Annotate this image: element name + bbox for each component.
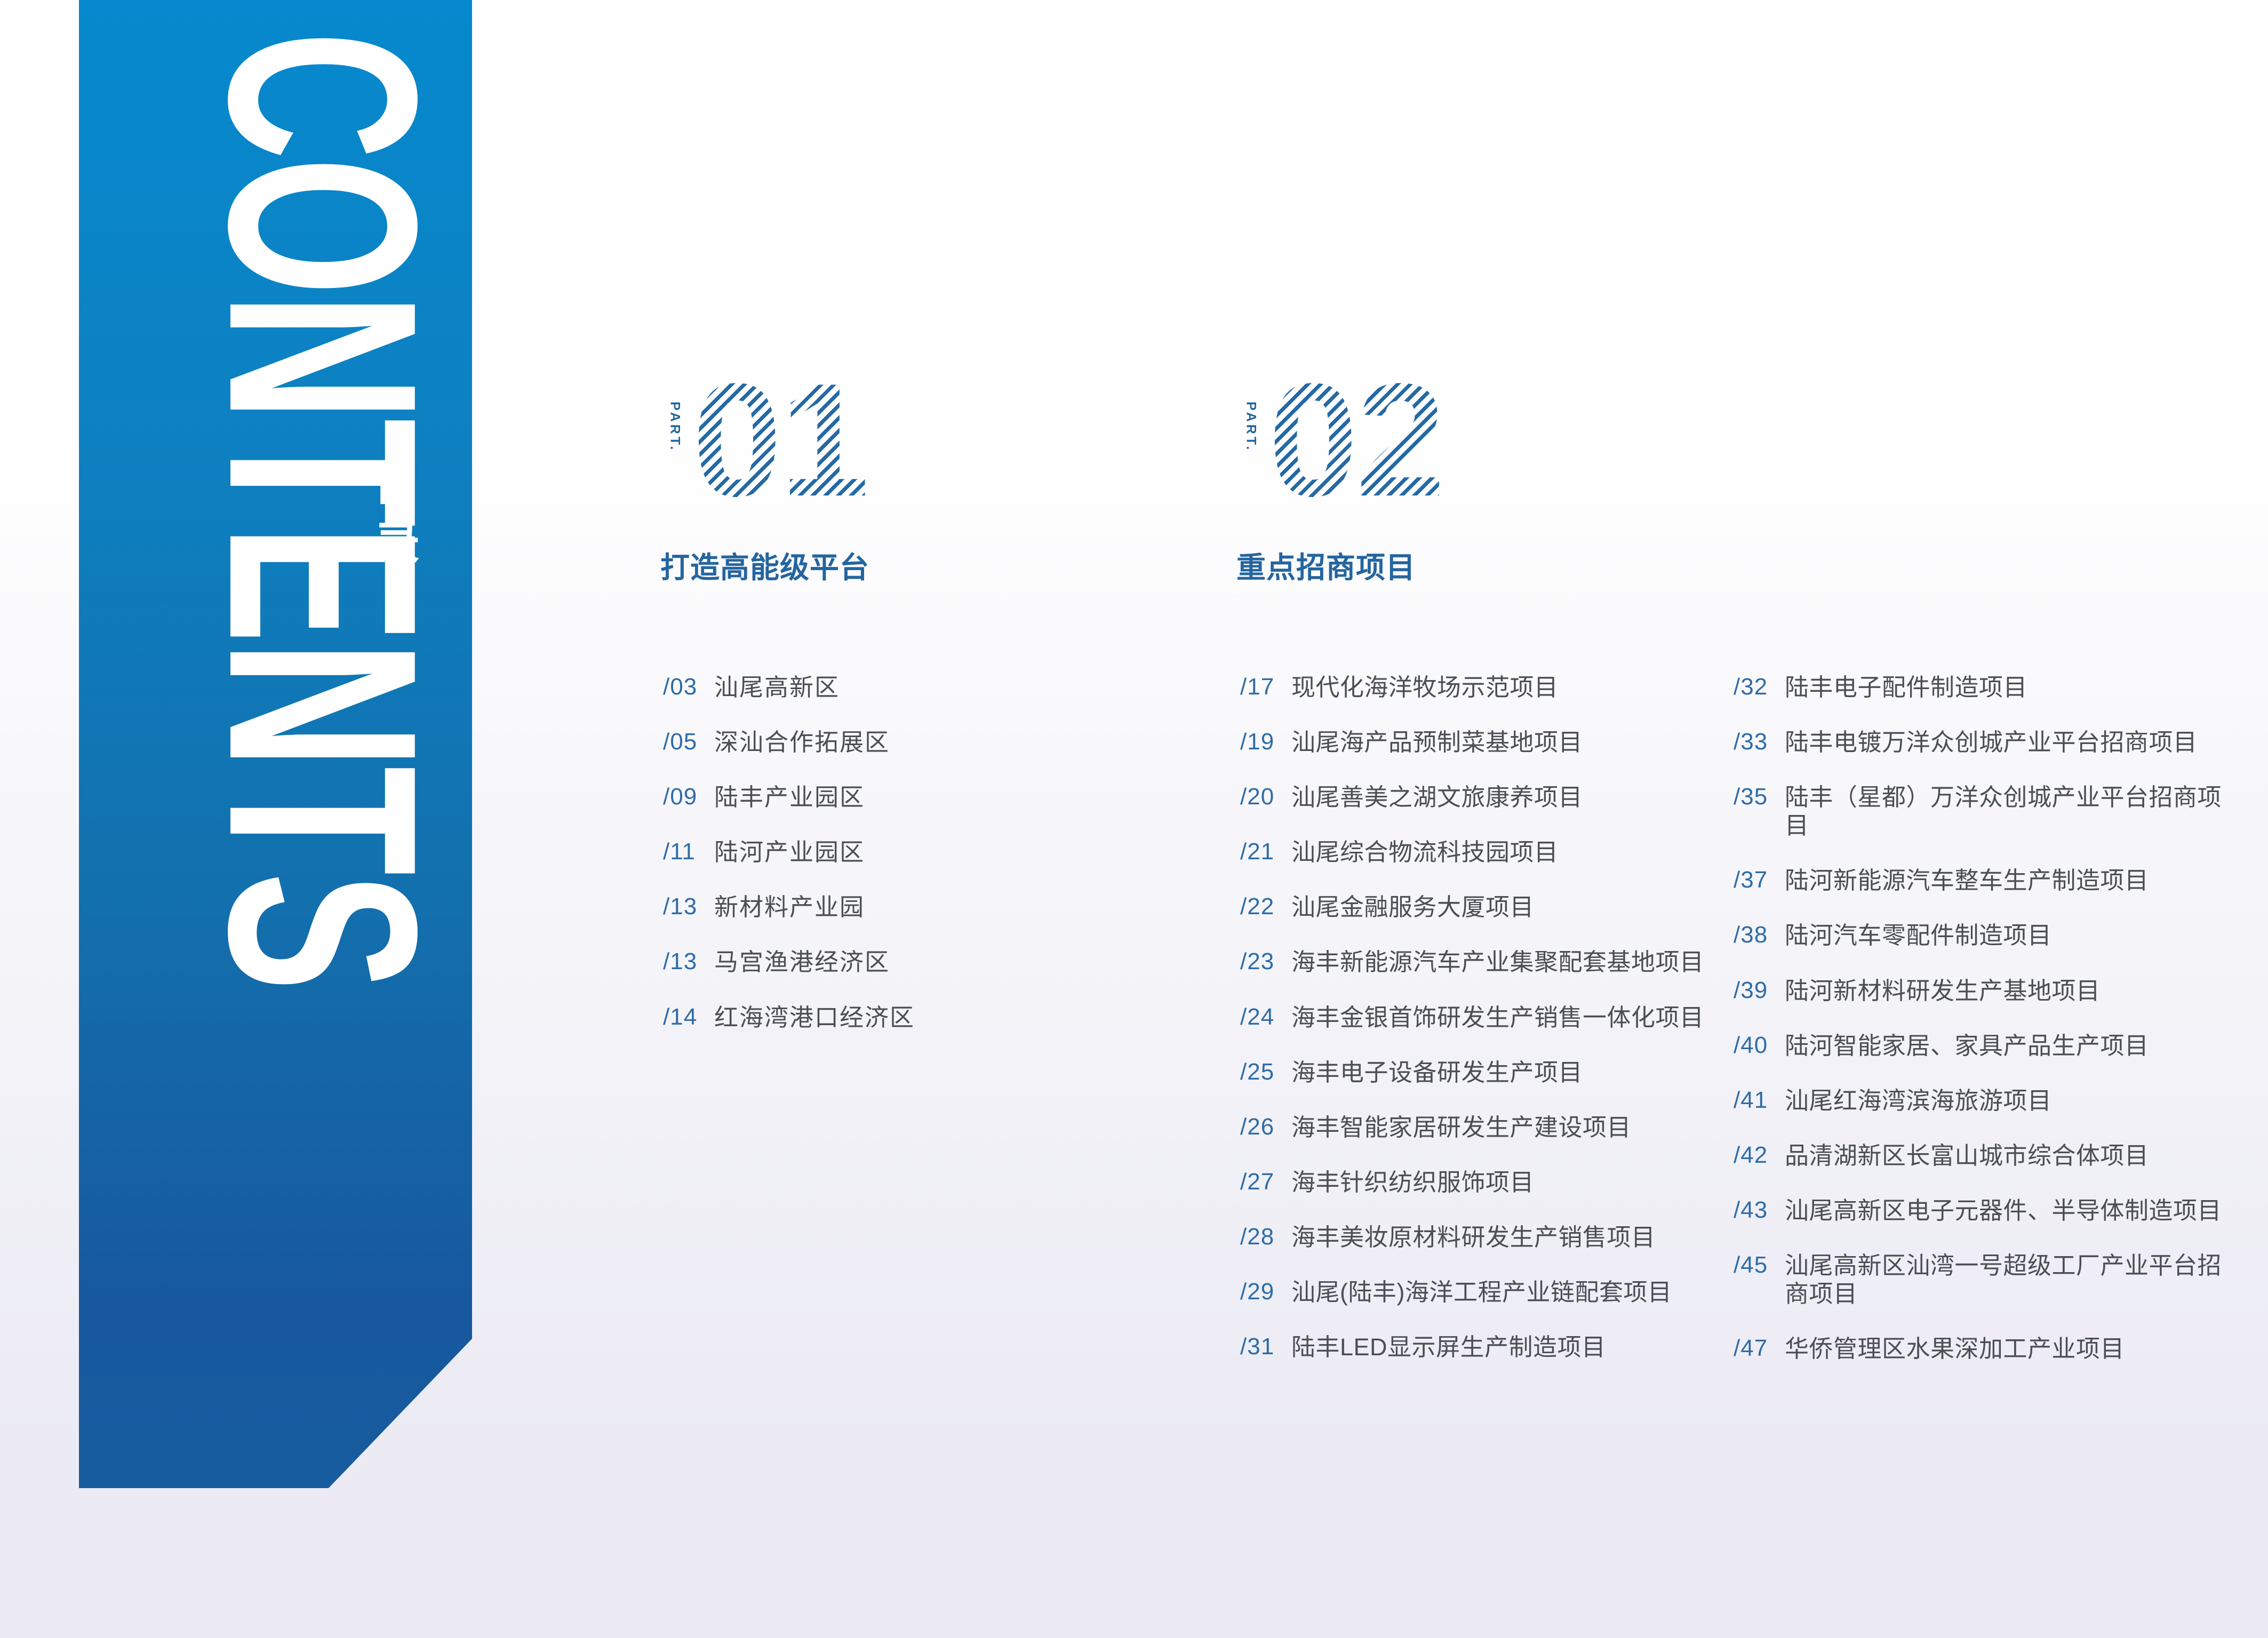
toc-entry-title: 海丰金银首饰研发生产销售一体化项目 bbox=[1291, 1003, 1704, 1032]
toc-entry-title: 汕尾金融服务大厦项目 bbox=[1291, 893, 1534, 921]
toc-entry-page-number: /13 bbox=[663, 948, 714, 976]
toc-entry-title: 陆丰产业园区 bbox=[714, 783, 865, 811]
toc-entry-title: 新材料产业园 bbox=[714, 893, 865, 921]
toc-entry-title: 陆河新材料研发生产基地项目 bbox=[1785, 977, 2101, 1005]
toc-entry[interactable]: /13马宫渔港经济区 bbox=[663, 948, 1004, 976]
toc-entry-title: 海丰新能源汽车产业集聚配套基地项目 bbox=[1291, 948, 1704, 976]
toc-entry[interactable]: /17现代化海洋牧场示范项目 bbox=[1240, 673, 1747, 701]
toc-entry[interactable]: /25海丰电子设备研发生产项目 bbox=[1240, 1058, 1747, 1086]
toc-entry[interactable]: /21汕尾综合物流科技园项目 bbox=[1240, 838, 1747, 866]
toc-entry[interactable]: /41汕尾红海湾滨海旅游项目 bbox=[1734, 1086, 2240, 1115]
toc-entry-title: 深汕合作拓展区 bbox=[714, 728, 890, 756]
toc-entry-page-number: /13 bbox=[663, 893, 714, 921]
toc-entry-title: 汕尾红海湾滨海旅游项目 bbox=[1785, 1086, 2052, 1115]
toc-entry-title: 陆河智能家居、家具产品生产项目 bbox=[1785, 1032, 2149, 1060]
toc-entry-page-number: /39 bbox=[1734, 977, 1785, 1004]
contents-wordmark: CONTENTS bbox=[79, 0, 472, 1488]
toc-entry-page-number: /40 bbox=[1734, 1032, 1785, 1059]
toc-entry-page-number: /32 bbox=[1734, 673, 1785, 701]
part-02-number-row: PART. 02 bbox=[1236, 368, 1443, 531]
toc-entry-title: 汕尾高新区 bbox=[714, 673, 840, 701]
toc-entry-page-number: /27 bbox=[1240, 1168, 1291, 1196]
toc-entry-page-number: /22 bbox=[1240, 893, 1291, 921]
toc-entry-page-number: /09 bbox=[663, 783, 714, 811]
toc-entry-title: 陆河新能源汽车整车生产制造项目 bbox=[1785, 866, 2149, 894]
toc-entry-title: 陆河产业园区 bbox=[714, 838, 865, 866]
toc-entry-page-number: /45 bbox=[1734, 1251, 1785, 1279]
toc-entry-page-number: /33 bbox=[1734, 728, 1785, 756]
toc-entry-page-number: /47 bbox=[1734, 1335, 1785, 1362]
toc-entry-title: 红海湾港口经济区 bbox=[714, 1003, 915, 1032]
toc-entry[interactable]: /45汕尾高新区汕湾一号超级工厂产业平台招商项目 bbox=[1734, 1251, 2240, 1308]
toc-entry-page-number: /17 bbox=[1240, 673, 1291, 701]
toc-entry[interactable]: /28海丰美妆原材料研发生产销售项目 bbox=[1240, 1223, 1747, 1251]
toc-entry-page-number: /11 bbox=[663, 838, 714, 866]
toc-entry-page-number: /29 bbox=[1240, 1278, 1291, 1306]
toc-entry[interactable]: /14红海湾港口经济区 bbox=[663, 1003, 1004, 1032]
toc-entry-page-number: /05 bbox=[663, 728, 714, 756]
toc-entry-page-number: /25 bbox=[1240, 1058, 1291, 1086]
part-01-label-wrapper: PART. bbox=[660, 368, 689, 528]
toc-entry-page-number: /42 bbox=[1734, 1141, 1785, 1169]
toc-entry[interactable]: /40陆河智能家居、家具产品生产项目 bbox=[1734, 1032, 2240, 1060]
toc-entry-page-number: /43 bbox=[1734, 1196, 1785, 1224]
toc-entry[interactable]: /29汕尾(陆丰)海洋工程产业链配套项目 bbox=[1240, 1278, 1747, 1306]
toc-entry-title: 汕尾善美之湖文旅康养项目 bbox=[1291, 783, 1583, 811]
part-01-title: 打造高能级平台 bbox=[660, 544, 869, 586]
toc-entry[interactable]: /38陆河汽车零配件制造项目 bbox=[1734, 921, 2240, 949]
toc-entry-page-number: /31 bbox=[1240, 1333, 1291, 1361]
toc-entry[interactable]: /32陆丰电子配件制造项目 bbox=[1734, 673, 2240, 701]
toc-entry-title: 陆丰电子配件制造项目 bbox=[1785, 673, 2027, 701]
part-01-number: 01 bbox=[689, 359, 867, 521]
toc-entry[interactable]: /35陆丰（星都）万洋众创城产业平台招商项目 bbox=[1734, 783, 2240, 840]
toc-entry[interactable]: /24海丰金银首饰研发生产销售一体化项目 bbox=[1240, 1003, 1747, 1032]
toc-entry[interactable]: /47华侨管理区水果深加工产业项目 bbox=[1734, 1335, 2240, 1363]
toc-entry-title: 海丰针织纺织服饰项目 bbox=[1291, 1168, 1534, 1196]
toc-entry[interactable]: /03汕尾高新区 bbox=[663, 673, 1004, 701]
toc-entry-page-number: /14 bbox=[663, 1003, 714, 1031]
toc-entry-title: 品清湖新区长富山城市综合体项目 bbox=[1785, 1141, 2149, 1170]
toc-entry[interactable]: /39陆河新材料研发生产基地项目 bbox=[1734, 977, 2240, 1005]
toc-entry-page-number: /20 bbox=[1240, 783, 1291, 811]
toc-entry-title: 汕尾(陆丰)海洋工程产业链配套项目 bbox=[1291, 1278, 1672, 1306]
page-title-cn-char-1: 目 bbox=[374, 455, 443, 515]
toc-entry[interactable]: /27海丰针织纺织服饰项目 bbox=[1240, 1168, 1747, 1196]
toc-entry[interactable]: /05深汕合作拓展区 bbox=[663, 728, 1004, 756]
toc-entry[interactable]: /37陆河新能源汽车整车生产制造项目 bbox=[1734, 866, 2240, 894]
toc-entry[interactable]: /09陆丰产业园区 bbox=[663, 783, 1004, 811]
toc-entry[interactable]: /19汕尾海产品预制菜基地项目 bbox=[1240, 728, 1747, 756]
page-title-cn-char-2: 录 bbox=[374, 515, 443, 574]
toc-entry-title: 陆丰LED显示屏生产制造项目 bbox=[1291, 1333, 1606, 1361]
toc-entry[interactable]: /11陆河产业园区 bbox=[663, 838, 1004, 866]
toc-entry-title: 汕尾海产品预制菜基地项目 bbox=[1291, 728, 1583, 756]
toc-entry-page-number: /19 bbox=[1240, 728, 1291, 756]
toc-entry[interactable]: /31陆丰LED显示屏生产制造项目 bbox=[1240, 1333, 1747, 1361]
toc-entry-page-number: /23 bbox=[1240, 948, 1291, 976]
part-01-number-row: PART. 01 bbox=[660, 368, 869, 531]
toc-column-2: /17现代化海洋牧场示范项目/19汕尾海产品预制菜基地项目/20汕尾善美之湖文旅… bbox=[1240, 673, 1747, 1388]
toc-column-3: /32陆丰电子配件制造项目/33陆丰电镀万洋众创城产业平台招商项目/35陆丰（星… bbox=[1734, 673, 2240, 1389]
toc-entry-page-number: /03 bbox=[663, 673, 714, 701]
toc-entry-title: 汕尾高新区电子元器件、半导体制造项目 bbox=[1785, 1196, 2222, 1225]
toc-entry[interactable]: /26海丰智能家居研发生产建设项目 bbox=[1240, 1113, 1747, 1141]
toc-entry[interactable]: /33陆丰电镀万洋众创城产业平台招商项目 bbox=[1734, 728, 2240, 756]
part-01-label: PART. bbox=[667, 402, 683, 452]
toc-entry[interactable]: /42品清湖新区长富山城市综合体项目 bbox=[1734, 1141, 2240, 1170]
toc-entry-title: 陆丰（星都）万洋众创城产业平台招商项目 bbox=[1785, 783, 2238, 840]
toc-entry-title: 现代化海洋牧场示范项目 bbox=[1291, 673, 1559, 701]
toc-entry-page-number: /26 bbox=[1240, 1113, 1291, 1141]
toc-entry-title: 陆丰电镀万洋众创城产业平台招商项目 bbox=[1785, 728, 2198, 756]
toc-entry-page-number: /35 bbox=[1734, 783, 1785, 811]
toc-entry-page-number: /41 bbox=[1734, 1086, 1785, 1114]
toc-entry-title: 马宫渔港经济区 bbox=[714, 948, 890, 976]
toc-entry[interactable]: /43汕尾高新区电子元器件、半导体制造项目 bbox=[1734, 1196, 2240, 1225]
toc-entry-title: 华侨管理区水果深加工产业项目 bbox=[1785, 1335, 2125, 1363]
part-01-header: PART. 01 打造高能级平台 bbox=[660, 368, 869, 586]
part-02-header: PART. 02 重点招商项目 bbox=[1236, 368, 1443, 586]
toc-entry[interactable]: /23海丰新能源汽车产业集聚配套基地项目 bbox=[1240, 948, 1747, 976]
part-02-title: 重点招商项目 bbox=[1236, 544, 1443, 586]
toc-entry[interactable]: /20汕尾善美之湖文旅康养项目 bbox=[1240, 783, 1747, 811]
page-title-cn: 目 录 bbox=[374, 455, 443, 574]
toc-entry-page-number: /37 bbox=[1734, 866, 1785, 894]
toc-entry-title: 海丰美妆原材料研发生产销售项目 bbox=[1291, 1223, 1656, 1251]
part-02-label-wrapper: PART. bbox=[1236, 368, 1265, 528]
toc-entry-title: 海丰智能家居研发生产建设项目 bbox=[1291, 1113, 1631, 1141]
toc-entry[interactable]: /22汕尾金融服务大厦项目 bbox=[1240, 893, 1747, 921]
toc-entry-page-number: /28 bbox=[1240, 1223, 1291, 1251]
toc-column-1: /03汕尾高新区/05深汕合作拓展区/09陆丰产业园区/11陆河产业园区/13新… bbox=[663, 673, 1004, 1058]
toc-entry-title: 陆河汽车零配件制造项目 bbox=[1785, 921, 2052, 949]
toc-entry[interactable]: /13新材料产业园 bbox=[663, 893, 1004, 921]
toc-entry-title: 汕尾综合物流科技园项目 bbox=[1291, 838, 1559, 866]
part-02-label: PART. bbox=[1243, 402, 1259, 452]
part-02-number: 02 bbox=[1265, 359, 1443, 521]
toc-entry-page-number: /21 bbox=[1240, 838, 1291, 866]
toc-entry-page-number: /38 bbox=[1734, 921, 1785, 949]
toc-entry-page-number: /24 bbox=[1240, 1003, 1291, 1031]
toc-entry-title: 海丰电子设备研发生产项目 bbox=[1291, 1058, 1583, 1086]
toc-entry-title: 汕尾高新区汕湾一号超级工厂产业平台招商项目 bbox=[1785, 1251, 2238, 1308]
left-blue-banner: CONTENTS 目 录 bbox=[79, 0, 472, 1488]
